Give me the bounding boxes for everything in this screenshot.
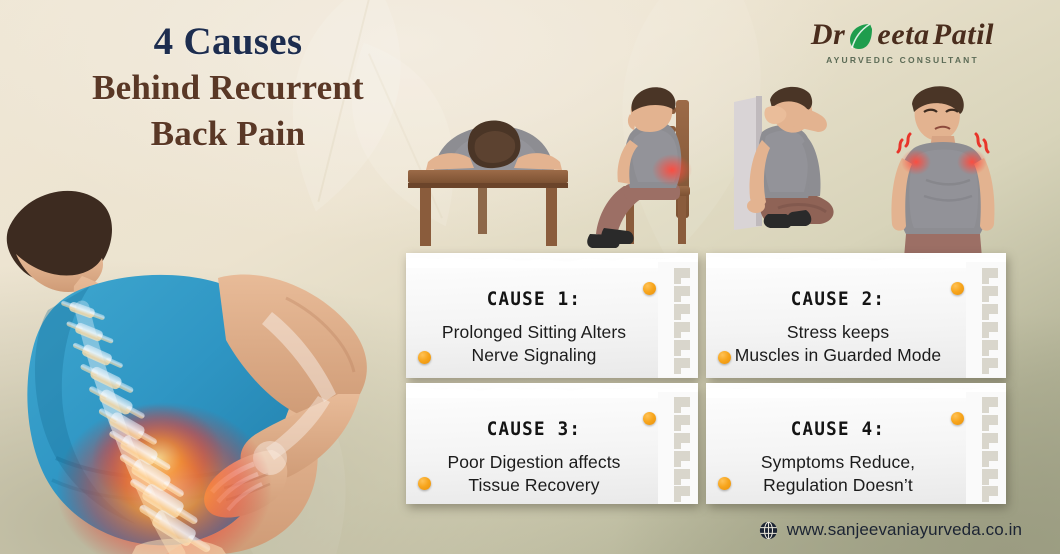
headline-line-2: Behind Recurrent xyxy=(58,68,398,109)
brand-word-dr: Dr xyxy=(811,20,846,50)
headline-line-3: Back Pain xyxy=(58,114,398,155)
cause-card-1-body: Prolonged Sitting Alters Nerve Signaling xyxy=(428,321,640,368)
cause-card-2-line-1: Stress keeps xyxy=(728,321,948,344)
man-slumped-on-desk xyxy=(408,121,568,247)
orange-dot-top-right xyxy=(643,412,656,425)
page-title: 4 Causes Behind Recurrent Back Pain xyxy=(58,22,398,154)
torn-edge-right xyxy=(658,262,698,378)
cause-card-4-body: Symptoms Reduce, Regulation Doesn’t xyxy=(728,451,948,498)
torn-edge-right xyxy=(658,392,698,504)
website-footer[interactable]: www.sanjeevaniayurveda.co.in xyxy=(759,520,1022,540)
cause-card-4-title: CAUSE 4: xyxy=(737,418,939,440)
brand-logo[interactable]: Dr eeta Patil AYURVEDIC CONSULTANT xyxy=(785,20,1020,65)
man-standing-shoulder-tension xyxy=(891,86,994,258)
orange-dot-bottom-left xyxy=(418,351,431,364)
cause-card-2-body: Stress keeps Muscles in Guarded Mode xyxy=(728,321,948,368)
brand-tagline: AYURVEDIC CONSULTANT xyxy=(785,55,1020,65)
torn-edge-top xyxy=(706,252,1006,268)
website-url[interactable]: www.sanjeevaniayurveda.co.in xyxy=(787,520,1022,540)
orange-dot-top-right xyxy=(643,282,656,295)
brand-word-geeta: eeta xyxy=(877,20,929,50)
torn-edge-top xyxy=(406,382,698,398)
cause-card-1-title: CAUSE 1: xyxy=(436,288,631,310)
man-back-pain-spine-xray xyxy=(0,158,386,554)
cause-card-3-line-2: Tissue Recovery xyxy=(428,474,640,497)
orange-dot-top-right xyxy=(951,412,964,425)
illustration-strip xyxy=(404,78,1024,258)
brand-word-patil: Patil xyxy=(933,20,994,50)
cause-card-4-line-1: Symptoms Reduce, xyxy=(728,451,948,474)
cause-card-3-body: Poor Digestion affects Tissue Recovery xyxy=(428,451,640,498)
cause-card-3[interactable]: CAUSE 3: Poor Digestion affects Tissue R… xyxy=(406,392,698,504)
man-sitting-chair-back-pain xyxy=(587,87,692,248)
cause-card-2-line-2: Muscles in Guarded Mode xyxy=(728,344,948,367)
globe-icon xyxy=(759,521,778,540)
cause-card-4-line-2: Regulation Doesn’t xyxy=(728,474,948,497)
infographic-canvas: 4 Causes Behind Recurrent Back Pain Dr e… xyxy=(0,0,1060,554)
torn-edge-top xyxy=(406,252,698,268)
cause-card-1-line-1: Prolonged Sitting Alters xyxy=(428,321,640,344)
torn-edge-right xyxy=(966,392,1006,504)
cause-card-2[interactable]: CAUSE 2: Stress keeps Muscles in Guarded… xyxy=(706,262,1006,378)
orange-dot-top-right xyxy=(951,282,964,295)
cause-card-2-title: CAUSE 2: xyxy=(737,288,939,310)
brand-name: Dr eeta Patil xyxy=(785,20,1020,50)
orange-dot-bottom-left xyxy=(418,477,431,490)
headline-line-1: 4 Causes xyxy=(58,22,398,63)
orange-dot-bottom-left xyxy=(718,477,731,490)
man-sitting-wall-stressed xyxy=(734,87,834,230)
cause-card-4[interactable]: CAUSE 4: Symptoms Reduce, Regulation Doe… xyxy=(706,392,1006,504)
cause-card-3-line-1: Poor Digestion affects xyxy=(428,451,640,474)
leaf-icon xyxy=(848,20,874,50)
cause-card-3-title: CAUSE 3: xyxy=(436,418,631,440)
orange-dot-bottom-left xyxy=(718,351,731,364)
cause-card-1[interactable]: CAUSE 1: Prolonged Sitting Alters Nerve … xyxy=(406,262,698,378)
cause-card-1-line-2: Nerve Signaling xyxy=(428,344,640,367)
torn-edge-top xyxy=(706,382,1006,398)
torn-edge-right xyxy=(966,262,1006,378)
